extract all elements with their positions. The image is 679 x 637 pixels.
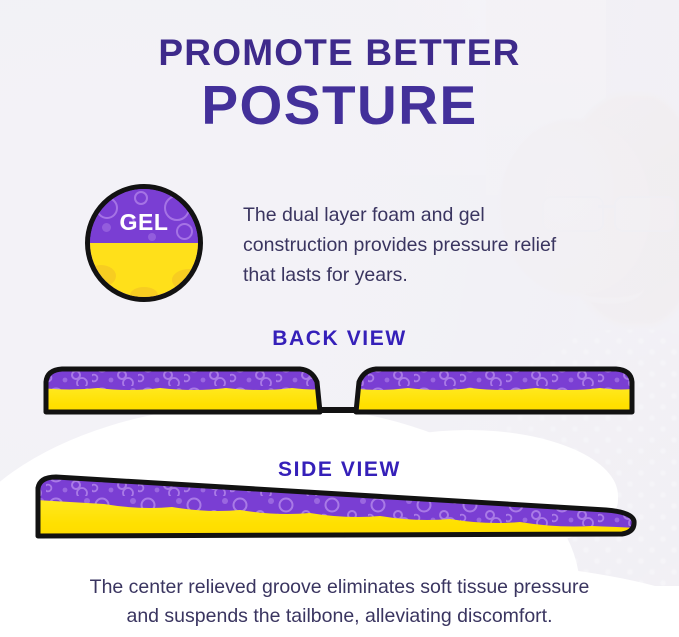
gel-foam-badge-icon: GEL FOAM	[85, 184, 203, 302]
caption-line-2: and suspends the tailbone, alleviating d…	[0, 602, 679, 631]
badge-gel-label: GEL	[90, 209, 198, 236]
infographic-canvas: PROMOTE BETTER POSTURE GEL FOAM The dual…	[0, 0, 679, 637]
foam-blob-icon	[172, 269, 198, 291]
title-line-1: PROMOTE BETTER	[0, 34, 679, 71]
intro-paragraph: The dual layer foam and gel construction…	[243, 200, 573, 291]
cushion-back-cross-section-icon	[0, 356, 679, 424]
cushion-side-wedge-icon	[0, 466, 679, 546]
bubble-icon	[134, 191, 148, 205]
bottom-caption: The center relieved groove eliminates so…	[0, 573, 679, 632]
foam-blob-icon	[90, 265, 116, 287]
back-view-label: BACK VIEW	[0, 327, 679, 351]
center-relief-groove	[318, 407, 358, 413]
badge-gel-half: GEL	[90, 189, 198, 243]
badge-foam-half: FOAM	[90, 243, 198, 297]
caption-line-1: The center relieved groove eliminates so…	[0, 573, 679, 602]
page-title: PROMOTE BETTER POSTURE	[0, 34, 679, 135]
foam-blob-icon	[130, 287, 158, 297]
title-line-2: POSTURE	[0, 77, 679, 135]
